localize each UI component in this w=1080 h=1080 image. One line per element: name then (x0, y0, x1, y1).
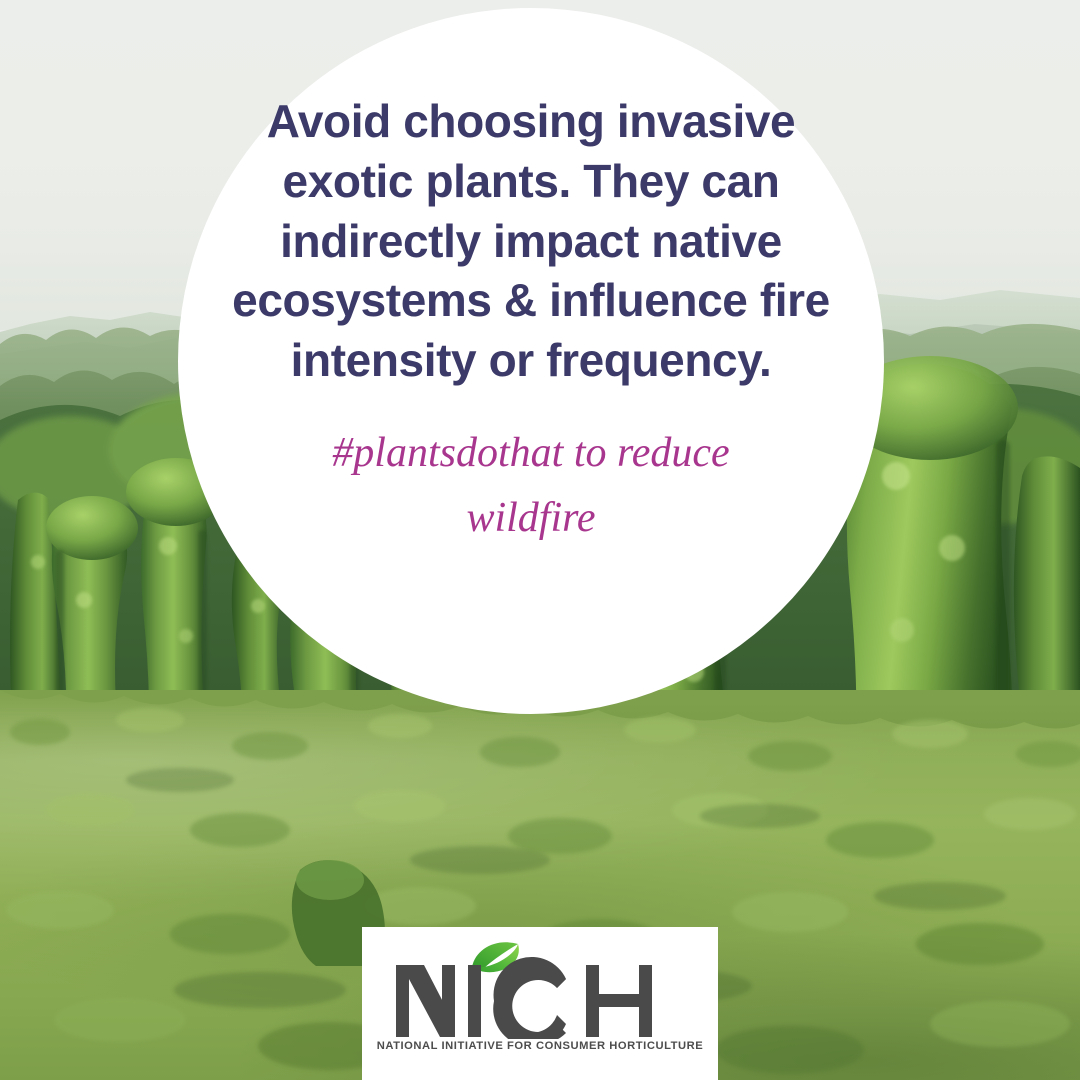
poster-canvas: Avoid choosing invasive exotic plants. T… (0, 0, 1080, 1080)
logo-subtitle: NATIONAL INITIATIVE FOR CONSUMER HORTICU… (377, 1040, 704, 1052)
campaign-tagline: #plantsdothat to reduce wildfire (291, 421, 771, 551)
logo-letter-h (586, 965, 652, 1037)
logo-letter-i (468, 965, 481, 1037)
message-block: Avoid choosing invasive exotic plants. T… (178, 8, 884, 714)
headline-text: Avoid choosing invasive exotic plants. T… (231, 92, 831, 391)
logo-letter-n (396, 965, 455, 1037)
nich-logo[interactable]: NATIONAL INITIATIVE FOR CONSUMER HORTICU… (362, 927, 718, 1080)
nich-wordmark (390, 935, 690, 1039)
logo-letter-c (493, 957, 566, 1039)
